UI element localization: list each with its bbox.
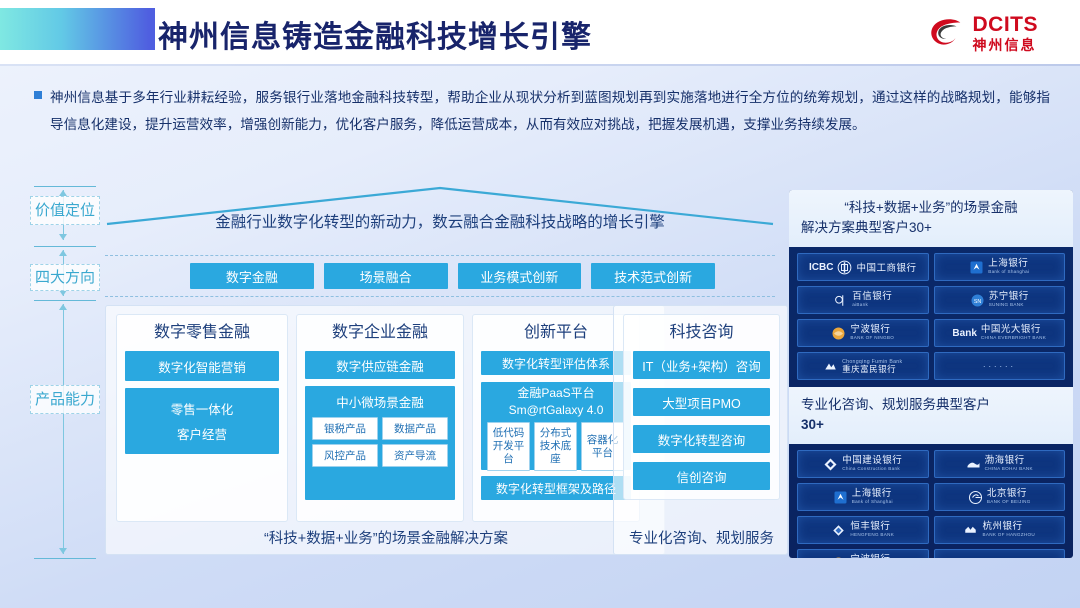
client-logo-hengfeng-bank[interactable]: 恒丰银行 HENGFENG BANK	[797, 516, 929, 544]
bank-of-ningbo-logo-icon	[831, 556, 846, 559]
paas-chip-lowcode[interactable]: 低代码开发平台	[487, 422, 530, 471]
beijing-names: 北京银行 BANK OF BEIJING	[987, 489, 1031, 505]
rail-label-capability-text: 产品能力	[35, 391, 95, 408]
retail-box-smart-marketing-label: 数字化智能营销	[158, 357, 246, 376]
direction-chip-4-label: 技术范式创新	[614, 267, 692, 286]
capability-columns: 数字零售金融 数字化智能营销 零售一体化 客户经营 数字企业金融 数字供应链金融…	[116, 314, 640, 522]
clients-section1-heading-line1: “科技+数据+业务”的场景金融	[801, 198, 1061, 218]
sme-chip-tax-label: 银税产品	[324, 421, 366, 436]
client-logo-bohai-bank[interactable]: 渤海银行 CHINA BOHAI BANK	[934, 450, 1066, 478]
client-logo-bank-of-shanghai-2[interactable]: 上海银行 Bank of Shanghai	[797, 483, 929, 511]
retail-box-integrated-customer[interactable]: 零售一体化 客户经营	[125, 388, 279, 454]
icbc-logo-icon	[837, 260, 852, 275]
ningbo-names-1: 宁波银行 BANK OF NINGBO	[850, 325, 894, 341]
direction-chip-4[interactable]: 技术范式创新	[591, 263, 715, 289]
ningbo-en-name-1: BANK OF NINGBO	[850, 336, 894, 341]
direction-chip-2[interactable]: 场景融合	[324, 263, 448, 289]
capability-column-enterprise: 数字企业金融 数字供应链金融 中小微场景金融 银税产品 数据产品 风控产品	[296, 314, 464, 522]
bank-of-ningbo-logo-icon	[831, 326, 846, 341]
hengfeng-en-name: HENGFENG BANK	[850, 533, 894, 538]
clients-section2-heading-line2: 30+	[801, 415, 1061, 435]
ccb-logo-icon	[823, 457, 838, 472]
client-logo-chongqing-fumin-bank[interactable]: Chongqing Fumin Bank 重庆富民银行	[797, 352, 929, 380]
bohai-names: 渤海银行 CHINA BOHAI BANK	[985, 456, 1033, 472]
consulting-title: 科技咨询	[633, 322, 770, 344]
ccb-cn-name: 中国建设银行	[842, 456, 902, 466]
typical-clients-panel: “科技+数据+业务”的场景金融 解决方案典型客户30+ ICBC 中国工商银行 …	[789, 190, 1073, 558]
consulting-box-xinchuang[interactable]: 信创咨询	[633, 462, 770, 490]
hangzhou-en-name: BANK OF HANGZHOU	[982, 533, 1035, 538]
dashed-divider-2	[105, 296, 775, 297]
chongqing-fumin-names: Chongqing Fumin Bank 重庆富民银行	[842, 358, 902, 374]
everbright-names: 中国光大银行 CHINA EVERBRIGHT BANK	[981, 325, 1046, 341]
client-logo-ccb[interactable]: 中国建设银行 China Construction Bank	[797, 450, 929, 478]
logo-en-text: DCITS	[973, 14, 1039, 35]
consulting-box-pmo-label: 大型项目PMO	[662, 393, 740, 412]
direction-chip-3[interactable]: 业务模式创新	[458, 263, 582, 289]
sme-chip-risk-label: 风控产品	[324, 448, 366, 463]
value-proposition-text: 金融行业数字化转型的新动力，数云融合金融科技战略的增长引擎	[105, 210, 775, 232]
sme-chip-asset-label: 资产导流	[394, 448, 436, 463]
rail-divider-mid2	[34, 300, 96, 301]
intro-bullet-icon	[34, 91, 42, 99]
clients-section2-logo-grid: 中国建设银行 China Construction Bank 渤海银行 CHIN…	[789, 444, 1073, 558]
icbc-mark-text: ICBC	[809, 262, 833, 273]
hengfeng-cn-name: 恒丰银行	[850, 522, 894, 532]
aibank-names: 百信银行 aiBank	[852, 292, 892, 308]
everbright-cn-name: 中国光大银行	[981, 325, 1046, 335]
aibank-en-name: aiBank	[852, 303, 892, 308]
client-logo-suning-bank[interactable]: SN 苏宁银行 SUNING BANK	[934, 286, 1066, 314]
client-logo-bank-of-ningbo-2[interactable]: 宁波银行 BANK OF NINGBO	[797, 549, 929, 558]
sme-chip-risk[interactable]: 风控产品	[312, 444, 378, 467]
direction-chip-1[interactable]: 数字金融	[190, 263, 314, 289]
ningbo-cn-name-2: 宁波银行	[850, 555, 894, 558]
cqfm-cn-name: 重庆富民银行	[842, 365, 902, 374]
innovation-box-assessment-label: 数字化转型评估体系	[502, 355, 610, 372]
clients-section1-logo-grid: ICBC 中国工商银行 上海银行 Bank of Shanghai	[789, 247, 1073, 387]
client-logo-bank-of-hangzhou[interactable]: 杭州银行 BANK OF HANGZHOU	[934, 516, 1066, 544]
svg-text:SN: SN	[974, 298, 982, 304]
client-logo-bank-of-shanghai-1[interactable]: 上海银行 Bank of Shanghai	[934, 253, 1066, 281]
rail-label-directions-text: 四大方向	[35, 269, 95, 286]
consulting-box-digital[interactable]: 数字化转型咨询	[633, 425, 770, 453]
bank-of-shanghai-names-1: 上海银行 Bank of Shanghai	[988, 259, 1029, 275]
sme-chip-data[interactable]: 数据产品	[382, 417, 448, 440]
suning-cn-name: 苏宁银行	[989, 292, 1029, 302]
innovation-box-framework-label: 数字化转型框架及路径	[496, 480, 616, 497]
rail-label-capability: 产品能力	[30, 385, 100, 414]
innovation-group-paas-title-line1: 金融PaaS平台	[487, 386, 625, 401]
icbc-cn-name: 中国工商银行	[856, 260, 916, 274]
clients-section2-heading-line1: 专业化咨询、规划服务典型客户	[801, 395, 1061, 415]
rail-arrow-capability	[63, 304, 64, 554]
ccb-en-name: China Construction Bank	[842, 467, 902, 472]
sme-chip-data-label: 数据产品	[394, 421, 436, 436]
innovation-box-framework[interactable]: 数字化转型框架及路径	[481, 476, 631, 500]
header-divider	[0, 64, 1080, 66]
client-logo-more-1[interactable]: ······	[934, 352, 1066, 380]
consulting-box-digital-label: 数字化转型咨询	[658, 430, 746, 449]
clients-section1-heading: “科技+数据+业务”的场景金融 解决方案典型客户30+	[789, 190, 1073, 247]
direction-chip-1-label: 数字金融	[226, 267, 278, 286]
brand-logo: DCITS 神州信息	[928, 14, 1039, 52]
innovation-group-paas[interactable]: 金融PaaS平台 Sm@rtGalaxy 4.0 低代码开发平台 分布式技术底座…	[481, 382, 631, 470]
bohai-cn-name: 渤海银行	[985, 456, 1033, 466]
bank-of-shanghai-names-2: 上海银行 Bank of Shanghai	[852, 489, 893, 505]
sme-chip-asset[interactable]: 资产导流	[382, 444, 448, 467]
consulting-box-it-label: IT（业务+架构）咨询	[642, 356, 760, 375]
hengfeng-names: 恒丰银行 HENGFENG BANK	[850, 522, 894, 538]
rail-divider-mid1	[34, 246, 96, 247]
bank-of-shanghai-logo-icon	[833, 490, 848, 505]
bank-of-shanghai-logo-icon	[969, 260, 984, 275]
logo-text-block: DCITS 神州信息	[973, 14, 1039, 52]
paas-chip-lowcode-label: 低代码开发平台	[489, 427, 528, 466]
aibank-cn-name: 百信银行	[852, 292, 892, 302]
everbright-en-name: CHINA EVERBRIGHT BANK	[981, 336, 1046, 341]
rail-divider-top	[34, 186, 96, 187]
hengfeng-bank-logo-icon	[831, 523, 846, 538]
capability-column-retail: 数字零售金融 数字化智能营销 零售一体化 客户经营	[116, 314, 288, 522]
value-proposition-banner: 金融行业数字化转型的新动力，数云融合金融科技战略的增长引擎	[105, 186, 775, 248]
bohai-bank-logo-icon	[966, 457, 981, 472]
enterprise-box-supply-chain-label: 数字供应链金融	[336, 356, 424, 375]
product-capability-card: 数字零售金融 数字化智能营销 零售一体化 客户经营 数字企业金融 数字供应链金融…	[105, 305, 665, 555]
consulting-box-xinchuang-label: 信创咨询	[676, 467, 726, 486]
dashed-divider-1	[105, 255, 775, 256]
bank-of-beijing-logo-icon	[968, 490, 983, 505]
beijing-en-name: BANK OF BEIJING	[987, 500, 1031, 505]
ellipsis-icon-1: ······	[983, 361, 1016, 371]
client-logo-bank-of-beijing[interactable]: 北京银行 BANK OF BEIJING	[934, 483, 1066, 511]
direction-chip-3-label: 业务模式创新	[480, 267, 558, 286]
page-title: 神州信息铸造金融科技增长引擎	[158, 12, 592, 56]
client-logo-everbright-bank[interactable]: Bank 中国光大银行 CHINA EVERBRIGHT BANK	[934, 319, 1066, 347]
client-logo-aibank[interactable]: 百信银行 aiBank	[797, 286, 929, 314]
innovation-group-paas-title-line2: Sm@rtGalaxy 4.0	[487, 403, 625, 418]
chongqing-fumin-bank-logo-icon	[823, 359, 838, 374]
capability-column-retail-title: 数字零售金融	[125, 322, 279, 344]
retail-box-line1: 零售一体化	[171, 399, 234, 418]
clients-section1-heading-line2: 解决方案典型客户30+	[801, 218, 1061, 238]
consulting-box-it[interactable]: IT（业务+架构）咨询	[633, 351, 770, 379]
ccb-names: 中国建设银行 China Construction Bank	[842, 456, 902, 472]
suning-bank-logo-icon: SN	[970, 293, 985, 308]
innovation-box-assessment[interactable]: 数字化转型评估体系	[481, 351, 631, 375]
hangzhou-cn-name: 杭州银行	[982, 522, 1035, 532]
innovation-paas-chip-grid: 低代码开发平台 分布式技术底座 容器化平台	[487, 422, 625, 471]
rail-label-value: 价值定位	[30, 196, 100, 225]
rail-label-value-text: 价值定位	[35, 202, 95, 219]
intro-paragraph: 神州信息基于多年行业耕耘经验，服务银行业落地金融科技转型，帮助企业从现状分析到蓝…	[34, 84, 1050, 138]
rail-label-directions: 四大方向	[30, 264, 100, 291]
clients-section2-heading: 专业化咨询、规划服务典型客户 30+	[789, 387, 1073, 444]
capability-column-innovation-title: 创新平台	[481, 322, 631, 344]
bos-en-name-2: Bank of Shanghai	[852, 500, 893, 505]
bank-of-hangzhou-logo-icon	[963, 523, 978, 538]
client-logo-icbc[interactable]: ICBC 中国工商银行	[797, 253, 929, 281]
retail-box-smart-marketing[interactable]: 数字化智能营销	[125, 351, 279, 381]
header-accent-bar	[0, 8, 155, 50]
logo-cn-text: 神州信息	[973, 38, 1039, 52]
capability-column-enterprise-title: 数字企业金融	[305, 322, 455, 344]
consulting-inner: 科技咨询 IT（业务+架构）咨询 大型项目PMO 数字化转型咨询 信创咨询	[623, 314, 780, 500]
enterprise-group-sme-title: 中小微场景金融	[312, 392, 448, 411]
paas-chip-distributed[interactable]: 分布式技术底座	[534, 422, 577, 471]
bos-cn-name-2: 上海银行	[852, 489, 893, 499]
intro-text: 神州信息基于多年行业耕耘经验，服务银行业落地金融科技转型，帮助企业从现状分析到蓝…	[50, 84, 1050, 138]
aibank-logo-icon	[833, 293, 848, 308]
four-directions-row: 数字金融 场景融合 业务模式创新 技术范式创新	[190, 263, 715, 289]
retail-box-line2: 客户经营	[177, 424, 227, 443]
direction-chip-2-label: 场景融合	[360, 267, 412, 286]
suning-en-name: SUNING BANK	[989, 303, 1029, 308]
ningbo-names-2: 宁波银行 BANK OF NINGBO	[850, 555, 894, 558]
enterprise-group-sme[interactable]: 中小微场景金融 银税产品 数据产品 风控产品 资产导流	[305, 386, 455, 500]
ningbo-cn-name-1: 宁波银行	[850, 325, 894, 335]
hangzhou-names: 杭州银行 BANK OF HANGZHOU	[982, 522, 1035, 538]
consulting-caption: 专业化咨询、规划服务	[614, 527, 789, 548]
bos-en-name-1: Bank of Shanghai	[988, 270, 1029, 275]
bos-cn-name-1: 上海银行	[988, 259, 1029, 269]
paas-chip-distributed-label: 分布式技术底座	[536, 427, 575, 466]
everbright-mark-text: Bank	[952, 328, 976, 339]
capability-caption: “科技+数据+业务”的场景金融解决方案	[106, 527, 666, 548]
dcits-swirl-icon	[928, 14, 966, 52]
suning-bank-names: 苏宁银行 SUNING BANK	[989, 292, 1029, 308]
page-header: 神州信息铸造金融科技增长引擎 DCITS 神州信息	[0, 0, 1080, 66]
client-logo-bank-of-ningbo-1[interactable]: 宁波银行 BANK OF NINGBO	[797, 319, 929, 347]
bohai-en-name: CHINA BOHAI BANK	[985, 467, 1033, 472]
enterprise-sme-chip-grid: 银税产品 数据产品 风控产品 资产导流	[312, 417, 448, 467]
beijing-cn-name: 北京银行	[987, 489, 1031, 499]
consulting-box-pmo[interactable]: 大型项目PMO	[633, 388, 770, 416]
sme-chip-tax[interactable]: 银税产品	[312, 417, 378, 440]
rail-divider-bottom	[34, 558, 96, 559]
client-logo-more-2[interactable]: ······	[934, 549, 1066, 558]
consulting-card: 科技咨询 IT（业务+架构）咨询 大型项目PMO 数字化转型咨询 信创咨询 专业…	[613, 305, 788, 555]
enterprise-box-supply-chain[interactable]: 数字供应链金融	[305, 351, 455, 379]
